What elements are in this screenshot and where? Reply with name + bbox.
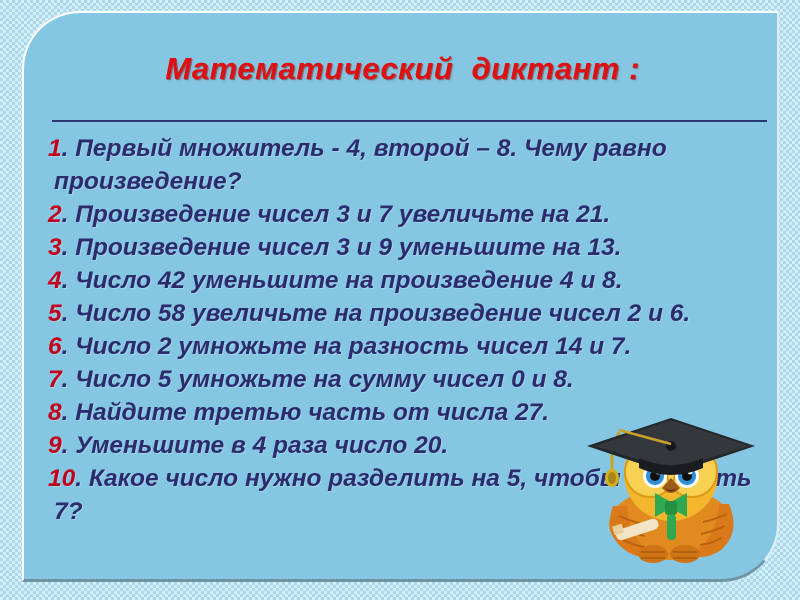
item-number: 9 xyxy=(48,432,62,459)
item-number: 7 xyxy=(48,366,62,393)
title-divider xyxy=(52,120,767,122)
content-panel: Математический диктант : 1. Первый множи… xyxy=(22,11,779,582)
slide-canvas: Математический диктант : 1. Первый множи… xyxy=(0,0,800,600)
item-number: 4 xyxy=(48,267,62,294)
item-number: 1 xyxy=(48,135,62,162)
list-item: 7. Число 5 умножьте на сумму чисел 0 и 8… xyxy=(32,363,777,396)
list-item: 1. Первый множитель - 4, второй – 8. Чем… xyxy=(32,132,777,198)
list-item: 3. Произведение чисел 3 и 9 уменьшите на… xyxy=(32,231,777,264)
item-number: 5 xyxy=(48,300,62,327)
item-text: . Уменьшите в 4 раза число 20. xyxy=(62,432,449,459)
list-item: 10. Какое число нужно разделить на 5, чт… xyxy=(32,462,777,528)
list-item: 5. Число 58 увеличьте на произведение чи… xyxy=(32,297,777,330)
item-text: . Число 42 уменьшите на произведение 4 и… xyxy=(62,267,623,294)
item-number: 2 xyxy=(48,201,62,228)
item-text: . Произведение чисел 3 и 7 увеличьте на … xyxy=(62,201,611,228)
item-text: . Первый множитель - 4, второй – 8. Чему… xyxy=(54,135,667,195)
item-number: 8 xyxy=(48,399,62,426)
list-item: 2. Произведение чисел 3 и 7 увеличьте на… xyxy=(32,198,777,231)
list-item: 9. Уменьшите в 4 раза число 20. xyxy=(32,429,777,462)
list-item: 6. Число 2 умножьте на разность чисел 14… xyxy=(32,330,777,363)
list-item: 8. Найдите третью часть от числа 27. xyxy=(32,396,777,429)
list-item: 4. Число 42 уменьшите на произведение 4 … xyxy=(32,264,777,297)
item-text: . Число 2 умножьте на разность чисел 14 … xyxy=(62,333,632,360)
page-title: Математический диктант : xyxy=(24,51,779,87)
item-number: 6 xyxy=(48,333,62,360)
question-list: 1. Первый множитель - 4, второй – 8. Чем… xyxy=(32,132,777,528)
item-text: . Число 5 умножьте на сумму чисел 0 и 8. xyxy=(62,366,574,393)
item-number: 10 xyxy=(48,465,75,492)
item-text: . Произведение чисел 3 и 9 уменьшите на … xyxy=(62,234,622,261)
item-text: . Число 58 увеличьте на произведение чис… xyxy=(62,300,691,327)
item-number: 3 xyxy=(48,234,62,261)
item-text: . Какое число нужно разделить на 5, чтоб… xyxy=(54,465,752,525)
item-text: . Найдите третью часть от числа 27. xyxy=(62,399,549,426)
